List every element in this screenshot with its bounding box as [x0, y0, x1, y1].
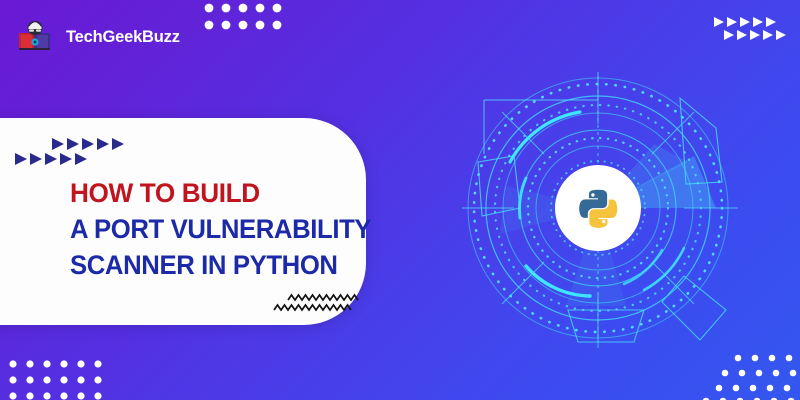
- dot-grid-icon: [8, 358, 104, 400]
- zigzag-line-icon: [268, 292, 374, 323]
- arrow-marker-icon: [14, 136, 124, 168]
- arrow-markers-top-right: [714, 16, 794, 51]
- banner-root: HOW TO BUILD A PORT VULNERABILITY SCANNE…: [0, 0, 800, 400]
- page-title: HOW TO BUILD A PORT VULNERABILITY SCANNE…: [70, 175, 370, 283]
- dot-grid-icon: [204, 0, 294, 40]
- techgeekbuzz-logo-icon[interactable]: [16, 20, 56, 54]
- title-line-2: A PORT VULNERABILITY: [70, 211, 361, 247]
- zigzag-svg: [268, 292, 374, 318]
- title-line-1: HOW TO BUILD: [70, 175, 361, 211]
- dot-grid-bottom-left: [8, 358, 104, 400]
- python-tech-circle-graphic: [448, 58, 748, 358]
- logo-svg: [16, 20, 56, 54]
- dot-grid-top-left: [204, 0, 294, 45]
- brand-name: TechGeekBuzz: [66, 28, 180, 47]
- title-line-3: SCANNER IN PYTHON: [70, 247, 361, 283]
- tech-circle-svg: [448, 58, 748, 358]
- brand-logo-group[interactable]: TechGeekBuzz: [16, 20, 180, 54]
- arrow-marker-icon: [714, 16, 794, 46]
- arrow-markers-card: [14, 136, 124, 173]
